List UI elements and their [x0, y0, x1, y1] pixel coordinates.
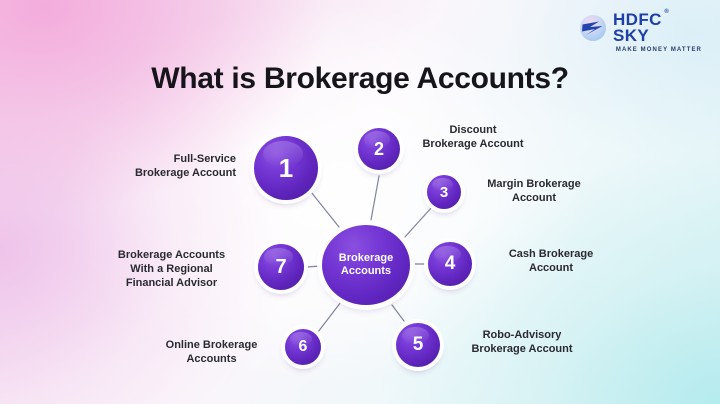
- node-6-number: 6: [299, 338, 308, 356]
- node-5-label: Robo-Advisory Brokerage Account: [452, 328, 592, 356]
- node-2-number: 2: [374, 139, 384, 160]
- node-2[interactable]: 2: [358, 128, 400, 170]
- node-4-number: 4: [445, 253, 456, 275]
- spoke-lines: [0, 0, 720, 404]
- center-line-2: Accounts: [339, 265, 393, 278]
- node-7-label: Brokerage Accounts With a Regional Finan…: [100, 248, 243, 290]
- node-1[interactable]: 1: [254, 136, 318, 200]
- node-5-number: 5: [413, 334, 424, 356]
- infographic-canvas: HDFC SKY ® MAKE MONEY MATTER What is Bro…: [0, 0, 720, 404]
- node-3-label: Margin Brokerage Account: [470, 177, 598, 205]
- center-node-text: Brokerage Accounts: [339, 252, 393, 278]
- brokerage-accounts-diagram: 1 Full-Service Brokerage Account 2 Disco…: [0, 0, 720, 404]
- node-7-number: 7: [275, 256, 286, 279]
- center-line-1: Brokerage: [339, 252, 393, 265]
- node-4[interactable]: 4: [428, 242, 472, 286]
- node-7[interactable]: 7: [258, 244, 304, 290]
- node-4-label: Cash Brokerage Account: [490, 247, 612, 275]
- node-6-label: Online Brokerage Accounts: [145, 338, 278, 366]
- node-6[interactable]: 6: [285, 329, 321, 365]
- node-3-number: 3: [440, 184, 448, 201]
- center-node[interactable]: Brokerage Accounts: [322, 225, 410, 305]
- node-1-label: Full-Service Brokerage Account: [106, 152, 236, 180]
- node-1-number: 1: [279, 153, 293, 184]
- node-5[interactable]: 5: [396, 323, 440, 367]
- node-2-label: Discount Brokerage Account: [406, 123, 540, 151]
- node-3[interactable]: 3: [427, 175, 461, 209]
